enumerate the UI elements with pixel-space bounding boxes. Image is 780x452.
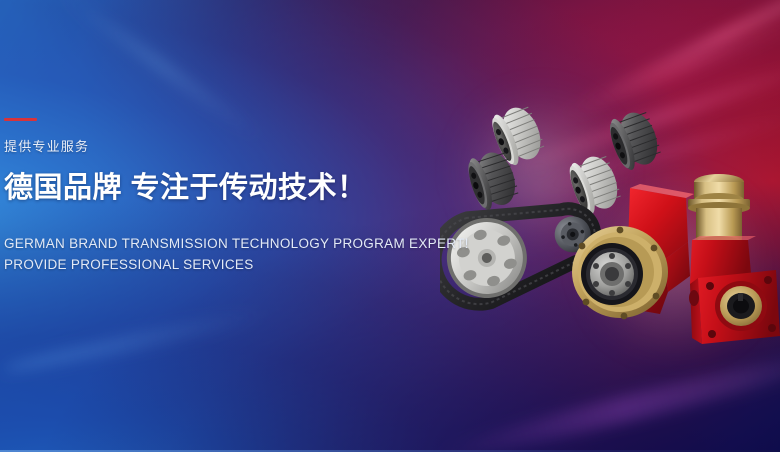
light-streak (433, 342, 780, 452)
promo-banner: 提供专业服务 德国品牌 专注于传动技术！ GERMAN BRAND TRANSM… (0, 0, 780, 452)
eyebrow-text: 提供专业服务 (4, 138, 424, 155)
english-subcopy: GERMAN BRAND TRANSMISSION TECHNOLOGY PRO… (4, 233, 424, 275)
page-title: 德国品牌 专注于传动技术！ (4, 171, 424, 205)
banner-copy: 提供专业服务 德国品牌 专注于传动技术！ GERMAN BRAND TRANSM… (4, 112, 424, 275)
english-line-2: PROVIDE PROFESSIONAL SERVICES (4, 254, 424, 275)
english-line-1: GERMAN BRAND TRANSMISSION TECHNOLOGY PRO… (4, 233, 424, 254)
accent-rule (4, 118, 37, 121)
light-streak (2, 299, 299, 377)
light-streak (575, 0, 780, 111)
